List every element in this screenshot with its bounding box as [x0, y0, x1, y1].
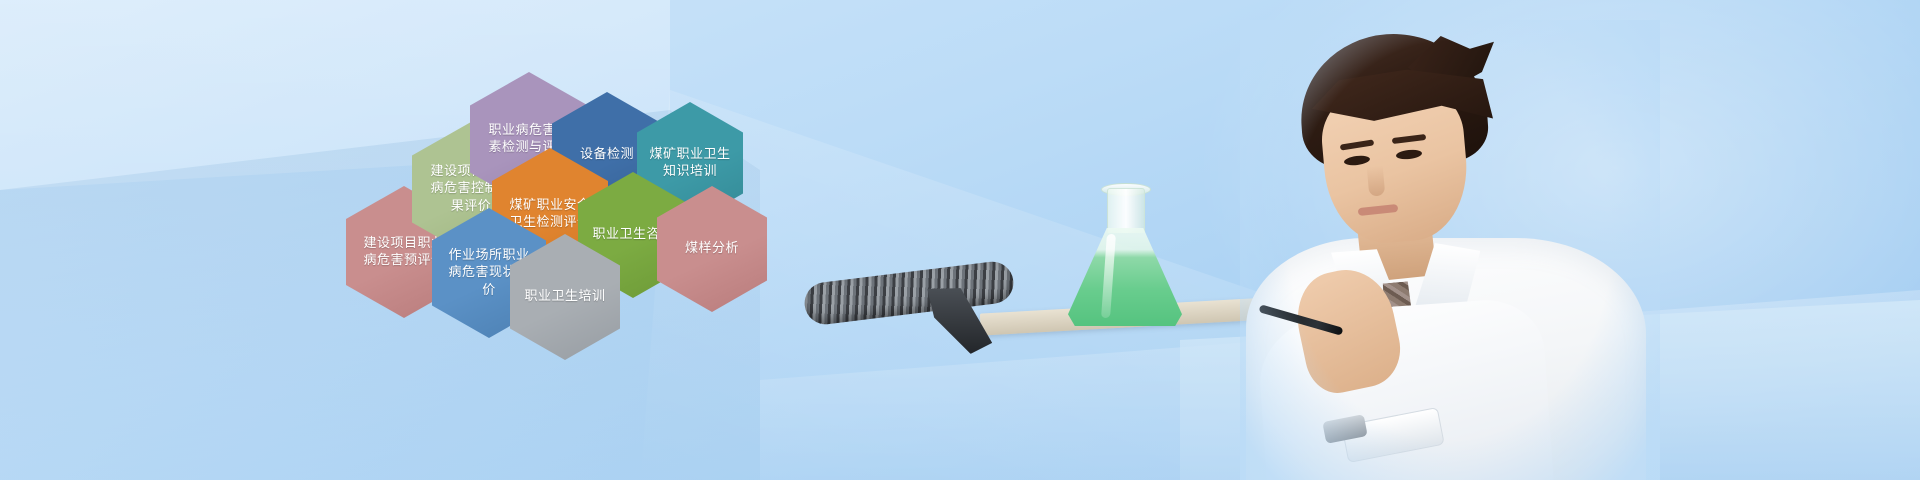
nose [1367, 165, 1386, 196]
banner: 建设项目职业病危害预评价建设项目职业病危害控制效果评价职业病危害因素检测与评价设… [0, 0, 1920, 480]
flask-neck [1107, 188, 1145, 233]
flask-body-with-green-liquid [1068, 228, 1182, 326]
hex-label: 设备检测 [574, 146, 640, 163]
erlenmeyer-flask-icon [1060, 188, 1190, 328]
hex-label: 煤矿职业卫生知识培训 [643, 146, 738, 180]
hex-label: 煤样分析 [679, 240, 745, 257]
hex-label: 职业卫生培训 [518, 288, 611, 305]
researcher-photo [1240, 20, 1660, 480]
